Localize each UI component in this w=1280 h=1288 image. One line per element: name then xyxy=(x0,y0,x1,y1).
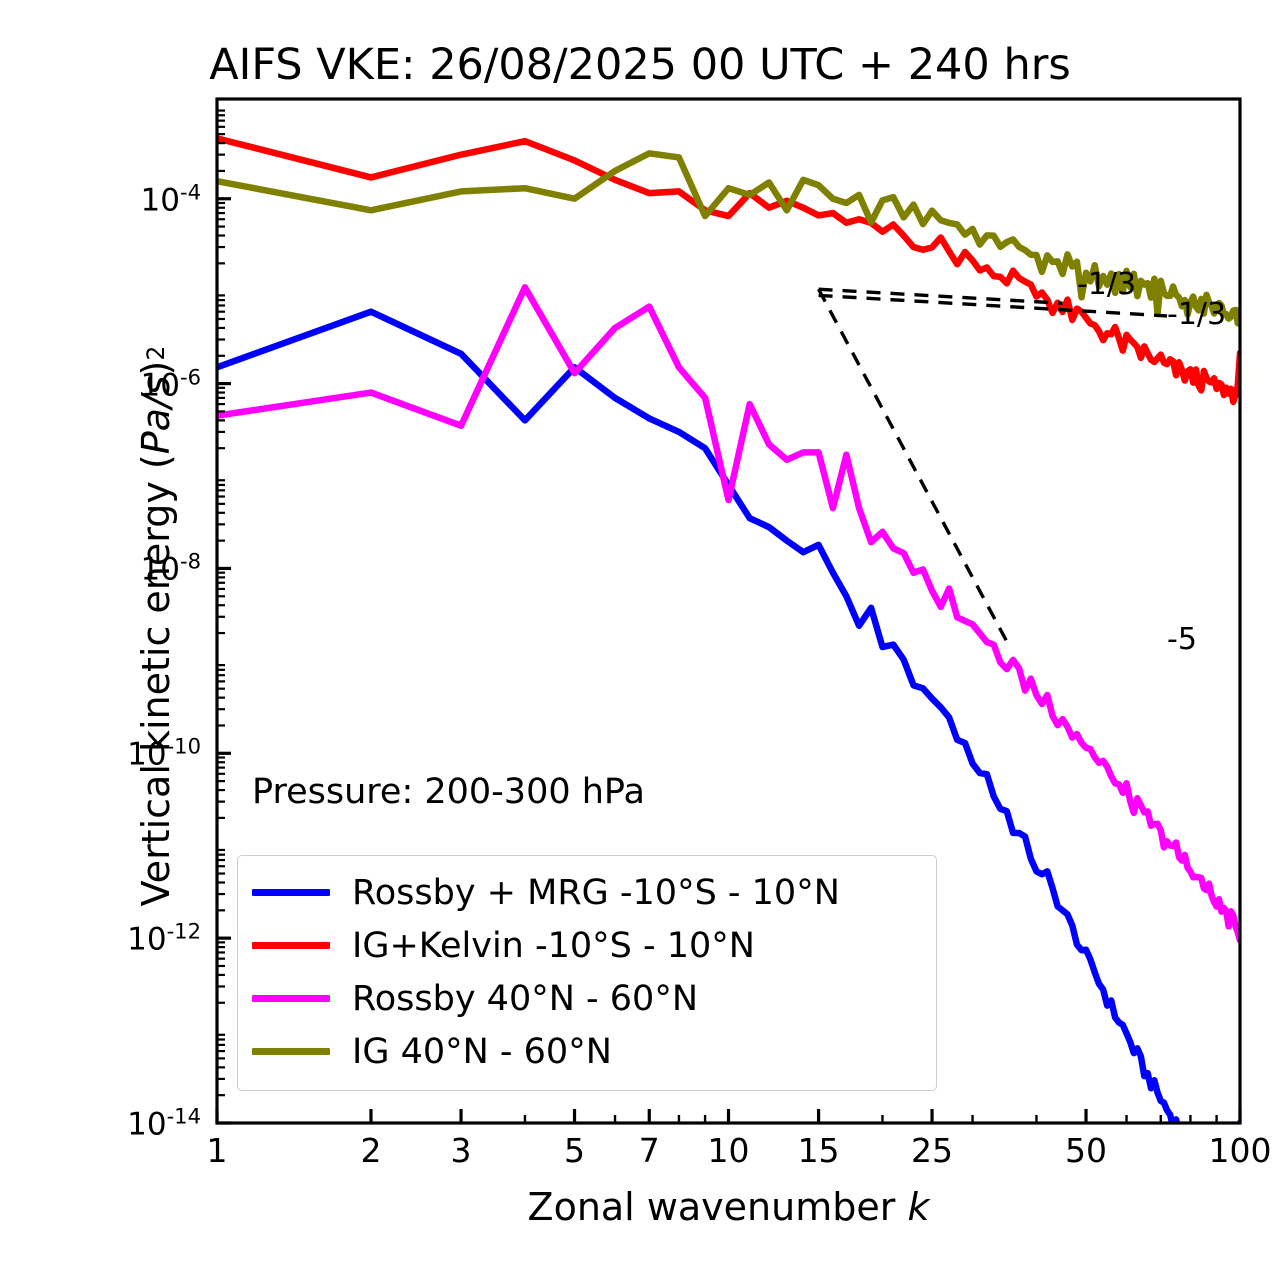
y-tick-label: 10-4 xyxy=(141,179,201,218)
y-tick-label: 10-8 xyxy=(141,549,201,588)
slope-label--1-3: -1/3 xyxy=(1167,297,1226,332)
y-tick-label: 10-6 xyxy=(141,364,201,403)
slope-label--5: -5 xyxy=(1167,622,1197,657)
x-tick-label: 7 xyxy=(639,1131,660,1170)
legend-swatch-1 xyxy=(252,942,330,949)
chart-figure: AIFS VKE: 26/08/2025 00 UTC + 240 hrs Ve… xyxy=(0,0,1280,1288)
legend-swatch-0 xyxy=(252,889,330,896)
y-tick-label: 10-10 xyxy=(127,734,201,773)
y-tick-label: 10-14 xyxy=(127,1103,201,1142)
legend-item-2[interactable]: Rossby 40°N - 60°N xyxy=(252,972,922,1025)
x-tick-label: 1 xyxy=(207,1131,228,1170)
y-tick-label: 10-12 xyxy=(127,918,201,957)
slope-label--1-3: -1/3 xyxy=(1077,267,1136,302)
chart-legend: Rossby + MRG -10°S - 10°NIG+Kelvin -10°S… xyxy=(237,855,937,1091)
legend-item-3[interactable]: IG 40°N - 60°N xyxy=(252,1025,922,1078)
legend-label-0: Rossby + MRG -10°S - 10°N xyxy=(352,873,840,913)
x-tick-label: 10 xyxy=(708,1131,750,1170)
x-tick-label: 3 xyxy=(451,1131,472,1170)
pressure-annotation: Pressure: 200-300 hPa xyxy=(252,772,645,812)
x-tick-label: 5 xyxy=(564,1131,585,1170)
x-tick-label: 100 xyxy=(1209,1131,1272,1170)
legend-label-3: IG 40°N - 60°N xyxy=(352,1032,612,1072)
legend-item-0[interactable]: Rossby + MRG -10°S - 10°N xyxy=(252,866,922,919)
legend-label-2: Rossby 40°N - 60°N xyxy=(352,979,698,1019)
series-line-2 xyxy=(217,287,1240,940)
legend-swatch-3 xyxy=(252,1048,330,1055)
x-tick-label: 25 xyxy=(911,1131,953,1170)
x-tick-label: 15 xyxy=(798,1131,840,1170)
legend-label-1: IG+Kelvin -10°S - 10°N xyxy=(352,926,755,966)
legend-swatch-2 xyxy=(252,995,330,1002)
x-tick-label: 2 xyxy=(360,1131,381,1170)
legend-item-1[interactable]: IG+Kelvin -10°S - 10°N xyxy=(252,919,922,972)
x-tick-label: 50 xyxy=(1065,1131,1107,1170)
